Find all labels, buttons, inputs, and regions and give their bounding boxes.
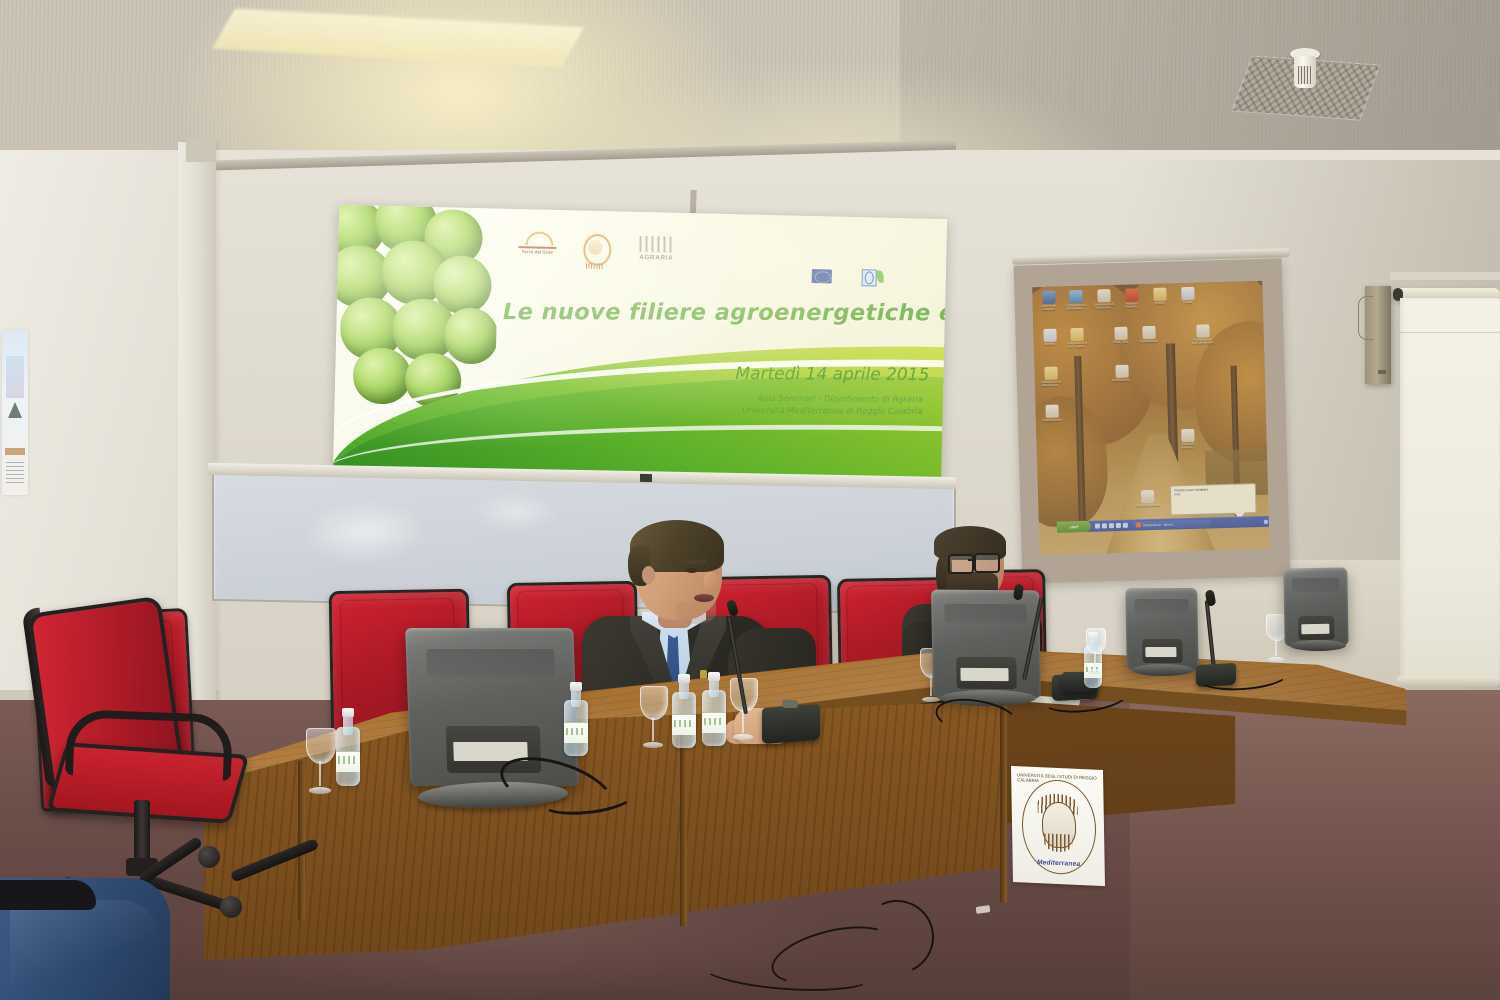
eu-flag-logo — [812, 269, 832, 283]
agraria-logo: AGRARIA — [633, 234, 677, 275]
water-bottle[interactable] — [336, 708, 360, 786]
system-tray[interactable]: 17:15 — [1264, 519, 1269, 524]
right-wall-trim — [1390, 272, 1500, 280]
desktop-icon[interactable]: Presentazione AGROENERGIA — [1189, 324, 1216, 345]
water-bottle[interactable] — [702, 672, 726, 746]
desktop-icon[interactable]: Dipartimento di Agraria-Uni... — [1090, 289, 1117, 310]
banner-title: Le nuove filiere agroenergetiche ecosost… — [503, 299, 923, 326]
panelist-glasses-bridge — [968, 559, 976, 561]
attendee-jeans-fold — [10, 900, 160, 1000]
office-chair-caster — [220, 896, 242, 918]
agraria-logo-label: AGRARIA — [633, 254, 679, 262]
microphone-base[interactable] — [762, 704, 820, 744]
banner-logo-row: Terre del Sole AGRARIA — [516, 231, 677, 277]
hardware-notification-balloon[interactable]: Trovato nuovo hardware USB — [1170, 483, 1257, 515]
terre-del-sole-logo: Terre del Sole — [516, 231, 556, 268]
desktop-icon[interactable]: Documenti Unione — [1134, 490, 1160, 508]
monitor[interactable] — [1125, 588, 1198, 670]
monitor[interactable] — [1283, 567, 1348, 646]
attendee-shoe — [0, 880, 96, 910]
smoke-detector-icon — [1290, 48, 1320, 98]
desktop-icon[interactable]: Seminario Sviluppo... — [1174, 429, 1201, 450]
monitor-stand-base — [1132, 664, 1194, 676]
whiteboard-tray-clip-icon — [640, 474, 652, 482]
water-bottle[interactable] — [672, 674, 696, 748]
desktop-icon[interactable]: Collegamento a Dichiarazioni ... — [1062, 290, 1089, 311]
monitor-label — [1145, 647, 1177, 657]
banner-title-text: Le nuove filiere agroenergetiche ecosost… — [503, 299, 947, 327]
wine-glass[interactable] — [640, 686, 666, 748]
psr-calabria-logo — [862, 269, 884, 285]
banner-eu-logo-row — [812, 268, 884, 285]
desktop-icon[interactable]: CCesar — [1174, 287, 1200, 305]
office-chair-caster — [198, 846, 220, 868]
seal-ring-text: UNIVERSITÀ DEGLI STUDI DI REGGIO CALABRI… — [1017, 772, 1098, 856]
banner-date: Martedì 14 aprile 2015 — [735, 364, 929, 385]
monitor-label — [960, 668, 1008, 681]
microphone-button[interactable] — [782, 700, 798, 708]
left-wall-poster — [2, 330, 28, 495]
whiteboard-reflection-secondary — [470, 491, 560, 533]
desktop-icon[interactable]: Covdi_2015 — [1107, 326, 1133, 344]
monitor-label — [1301, 624, 1329, 634]
quick-launch-bar[interactable] — [1095, 523, 1128, 529]
circular-orange-logo — [581, 233, 608, 274]
water-bottle[interactable] — [564, 682, 588, 756]
monitor[interactable] — [931, 590, 1041, 699]
banner-fruit-photo — [335, 205, 500, 409]
banner-venue-line-1: Aula Seminari - Dipartimento di Agraria — [731, 392, 923, 405]
desktop-icon[interactable]: Microsoft PowerPo... — [1118, 288, 1145, 309]
wine-glass[interactable] — [1086, 628, 1104, 674]
desktop-icon[interactable]: Pianificazione... — [1108, 364, 1134, 382]
pull-down-screen-bottom-bar — [1396, 676, 1500, 687]
desktop-icon[interactable]: Risorse del computer — [1035, 290, 1062, 311]
table-panel-seam — [298, 759, 305, 921]
monitor-stand-base — [1290, 640, 1346, 651]
desktop-icon[interactable]: Dichiarazione — [1135, 326, 1161, 344]
pillar-bracket — [186, 138, 216, 162]
taskbar-window-button[interactable]: Dichiarazione - Micros... — [1134, 519, 1210, 529]
banner-venue-line-2: Università Mediterranea di Reggio Calabr… — [731, 404, 923, 417]
office-chair-armrest — [65, 709, 233, 781]
conference-room-photo: Terre del Sole AGRARIA Le nuove filiere … — [0, 0, 1500, 1000]
document-icon — [1136, 522, 1141, 527]
panelist-glasses-left-lens — [948, 554, 974, 574]
panelist-glasses-right-lens — [974, 553, 1000, 573]
desktop-icon[interactable]: Cestino — [1036, 328, 1062, 346]
wine-glass[interactable] — [306, 728, 334, 794]
desktop-icon[interactable]: eDichiarazione — [1039, 404, 1065, 422]
terre-del-sole-logo-label: Terre del Sole — [516, 249, 558, 255]
pull-down-screen-seam — [1400, 332, 1500, 333]
university-seal-plaque: UNIVERSITÀ DEGLI STUDI DI REGGIO CALABRI… — [1011, 766, 1105, 886]
wine-glass[interactable] — [1266, 614, 1286, 662]
pull-down-screen — [1400, 298, 1500, 680]
whiteboard-reflection — [298, 497, 432, 568]
desktop-icon[interactable]: Collegamento a Nuova carte... — [1063, 328, 1090, 349]
event-banner: Terre del Sole AGRARIA Le nuove filiere … — [333, 205, 947, 491]
desktop-icon[interactable]: pratica — [1146, 287, 1172, 305]
taskbar-window-label: Dichiarazione - Micros... — [1143, 522, 1175, 527]
banner-venue: Aula Seminari - Dipartimento di Agraria … — [731, 392, 923, 418]
speaker-badge-icon — [1378, 370, 1386, 374]
speaker-cable — [1358, 296, 1373, 340]
projected-desktop: Risorse del computer Collegamento a Dich… — [1032, 281, 1269, 555]
desktop-icon[interactable]: Collegamento a Nuova carte... — [1037, 366, 1064, 387]
